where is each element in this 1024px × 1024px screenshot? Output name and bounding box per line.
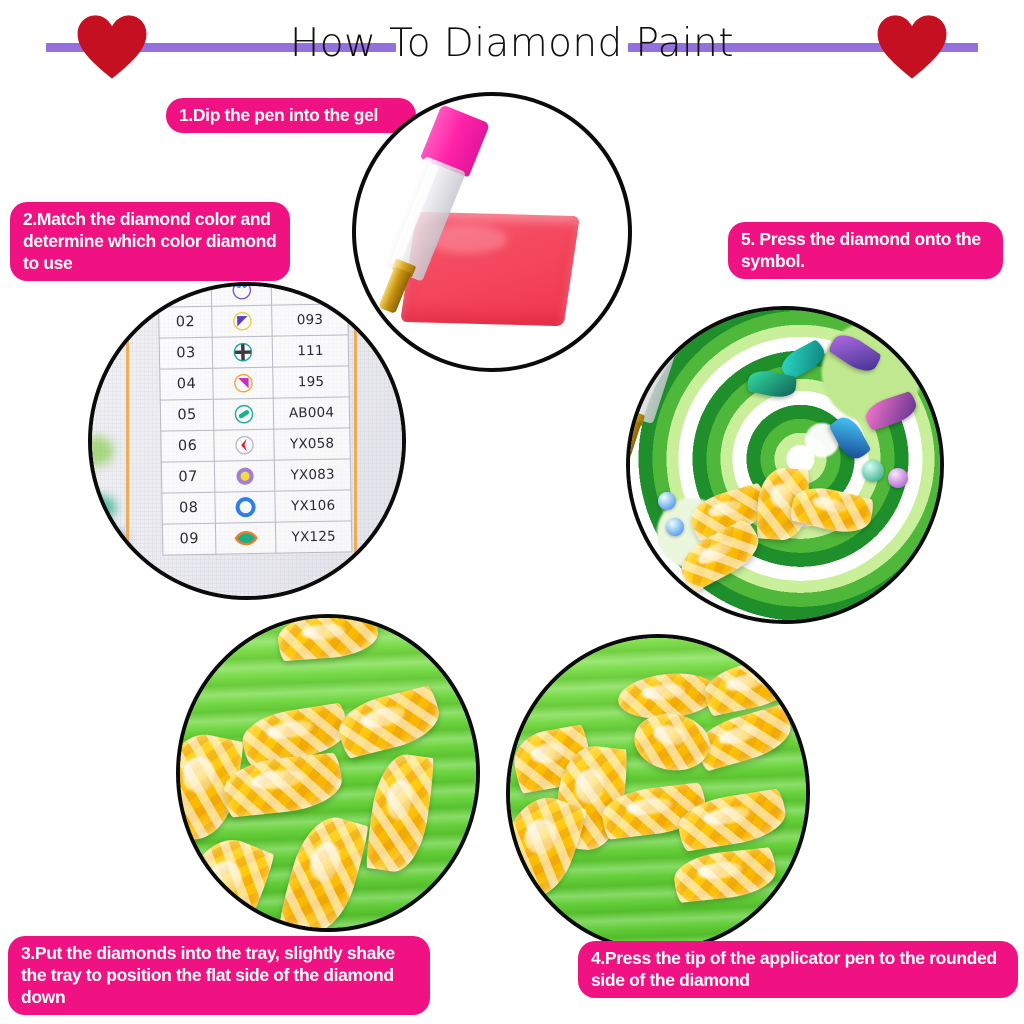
symbol-row-code: AB004 <box>273 397 349 429</box>
symbol-row-number: 06 <box>161 430 215 462</box>
tray-gem <box>333 684 445 759</box>
symbol-row-number: 08 <box>162 492 216 524</box>
symbol-legend-row: 07YX083 <box>161 459 351 493</box>
symbol-row-number: 05 <box>160 399 214 431</box>
placed-gem <box>862 391 919 432</box>
symbol-legend-row: 04195 <box>160 366 350 400</box>
tray-gem <box>364 751 436 876</box>
symbol-row-code: YX083 <box>274 459 350 491</box>
placed-gem <box>827 328 883 378</box>
symbol-row-code: 111 <box>272 335 348 367</box>
symbol-row-number: 02 <box>159 306 213 338</box>
mosaic-canvas-scene <box>630 310 940 620</box>
symbol-legend-row: 03111 <box>159 335 349 369</box>
placed-gem <box>828 412 872 463</box>
cross-symbol <box>212 336 273 368</box>
symbol-legend-row: 08YX106 <box>162 490 352 524</box>
symbol-chart-scene: 0102802093031110419505AB00406YX05807YX08… <box>92 286 402 596</box>
tray-gem <box>176 828 277 932</box>
symbol-legend-table: 0102802093031110419505AB00406YX05807YX08… <box>158 282 353 556</box>
symbol-row-code: YX106 <box>275 490 351 522</box>
symbol-row-code: YX125 <box>276 521 352 553</box>
symbol-row-code: YX058 <box>274 428 350 460</box>
symbol-legend-row: 09YX125 <box>162 521 352 555</box>
symbol-row-code: 195 <box>273 366 349 398</box>
symbol-legend-body: 0102802093031110419505AB00406YX05807YX08… <box>158 282 352 555</box>
diamond-tray-scene <box>180 618 476 928</box>
leaf-symbol <box>216 522 277 554</box>
pen-barrel <box>506 634 567 733</box>
symbol-row-number: 07 <box>161 461 215 493</box>
chart-edge-stripe <box>354 282 357 600</box>
dot-in-ring-symbol <box>215 460 276 492</box>
chart-edge-stripe <box>126 282 129 600</box>
tray-gem <box>630 708 715 776</box>
step-3-label: 3.Put the diamonds into the tray, slight… <box>8 936 430 1015</box>
step-5-label: 5. Press the diamond onto the symbol. <box>728 222 1003 279</box>
pen-barrel <box>626 309 686 424</box>
symbol-row-code: 093 <box>272 304 348 336</box>
placed-gem <box>888 468 908 488</box>
triangle-symbol <box>213 367 274 399</box>
symbol-row-number: 09 <box>162 523 216 555</box>
placed-gem <box>862 460 884 482</box>
canvas-color-blob <box>102 531 126 549</box>
step-5-photo <box>626 306 944 624</box>
donut-symbol <box>215 491 276 523</box>
infographic-page: How To Diamond Paint 1.Dip the pen into … <box>0 0 1024 1024</box>
pen-tip <box>626 417 642 468</box>
symbol-row-number: 04 <box>160 368 214 400</box>
symbol-legend-row: 05AB004 <box>160 397 350 431</box>
tray-gem <box>277 809 371 932</box>
symbol-row-code: 028 <box>271 282 347 305</box>
tray-gem <box>672 847 778 903</box>
step-4-label: 4.Press the tip of the applicator pen to… <box>578 941 1018 998</box>
step-2-photo: 0102802093031110419505AB00406YX05807YX08… <box>88 282 406 600</box>
step-4-photo <box>506 634 810 952</box>
placed-gem <box>658 492 676 510</box>
eyes-circle-symbol <box>211 282 272 306</box>
symbol-legend-row: 06YX058 <box>161 428 351 462</box>
symbol-row-number: 03 <box>159 337 213 369</box>
step-3-photo <box>176 614 480 932</box>
pen-picks-gem-scene <box>510 638 806 948</box>
capsule-symbol <box>213 398 274 430</box>
page-header: How To Diamond Paint <box>0 0 1024 90</box>
symbol-legend-row: 02093 <box>159 304 349 338</box>
symbol-row-number: 01 <box>158 282 212 307</box>
triangle-symbol <box>212 305 273 337</box>
tray-gem <box>277 614 380 661</box>
tray-gem <box>700 655 799 717</box>
page-title: How To Diamond Paint <box>0 18 1024 70</box>
step-2-label: 2.Match the diamond color and determine … <box>10 202 290 281</box>
chevron-symbol <box>214 429 275 461</box>
applicator-pen <box>626 306 699 499</box>
placed-gem <box>666 518 684 536</box>
